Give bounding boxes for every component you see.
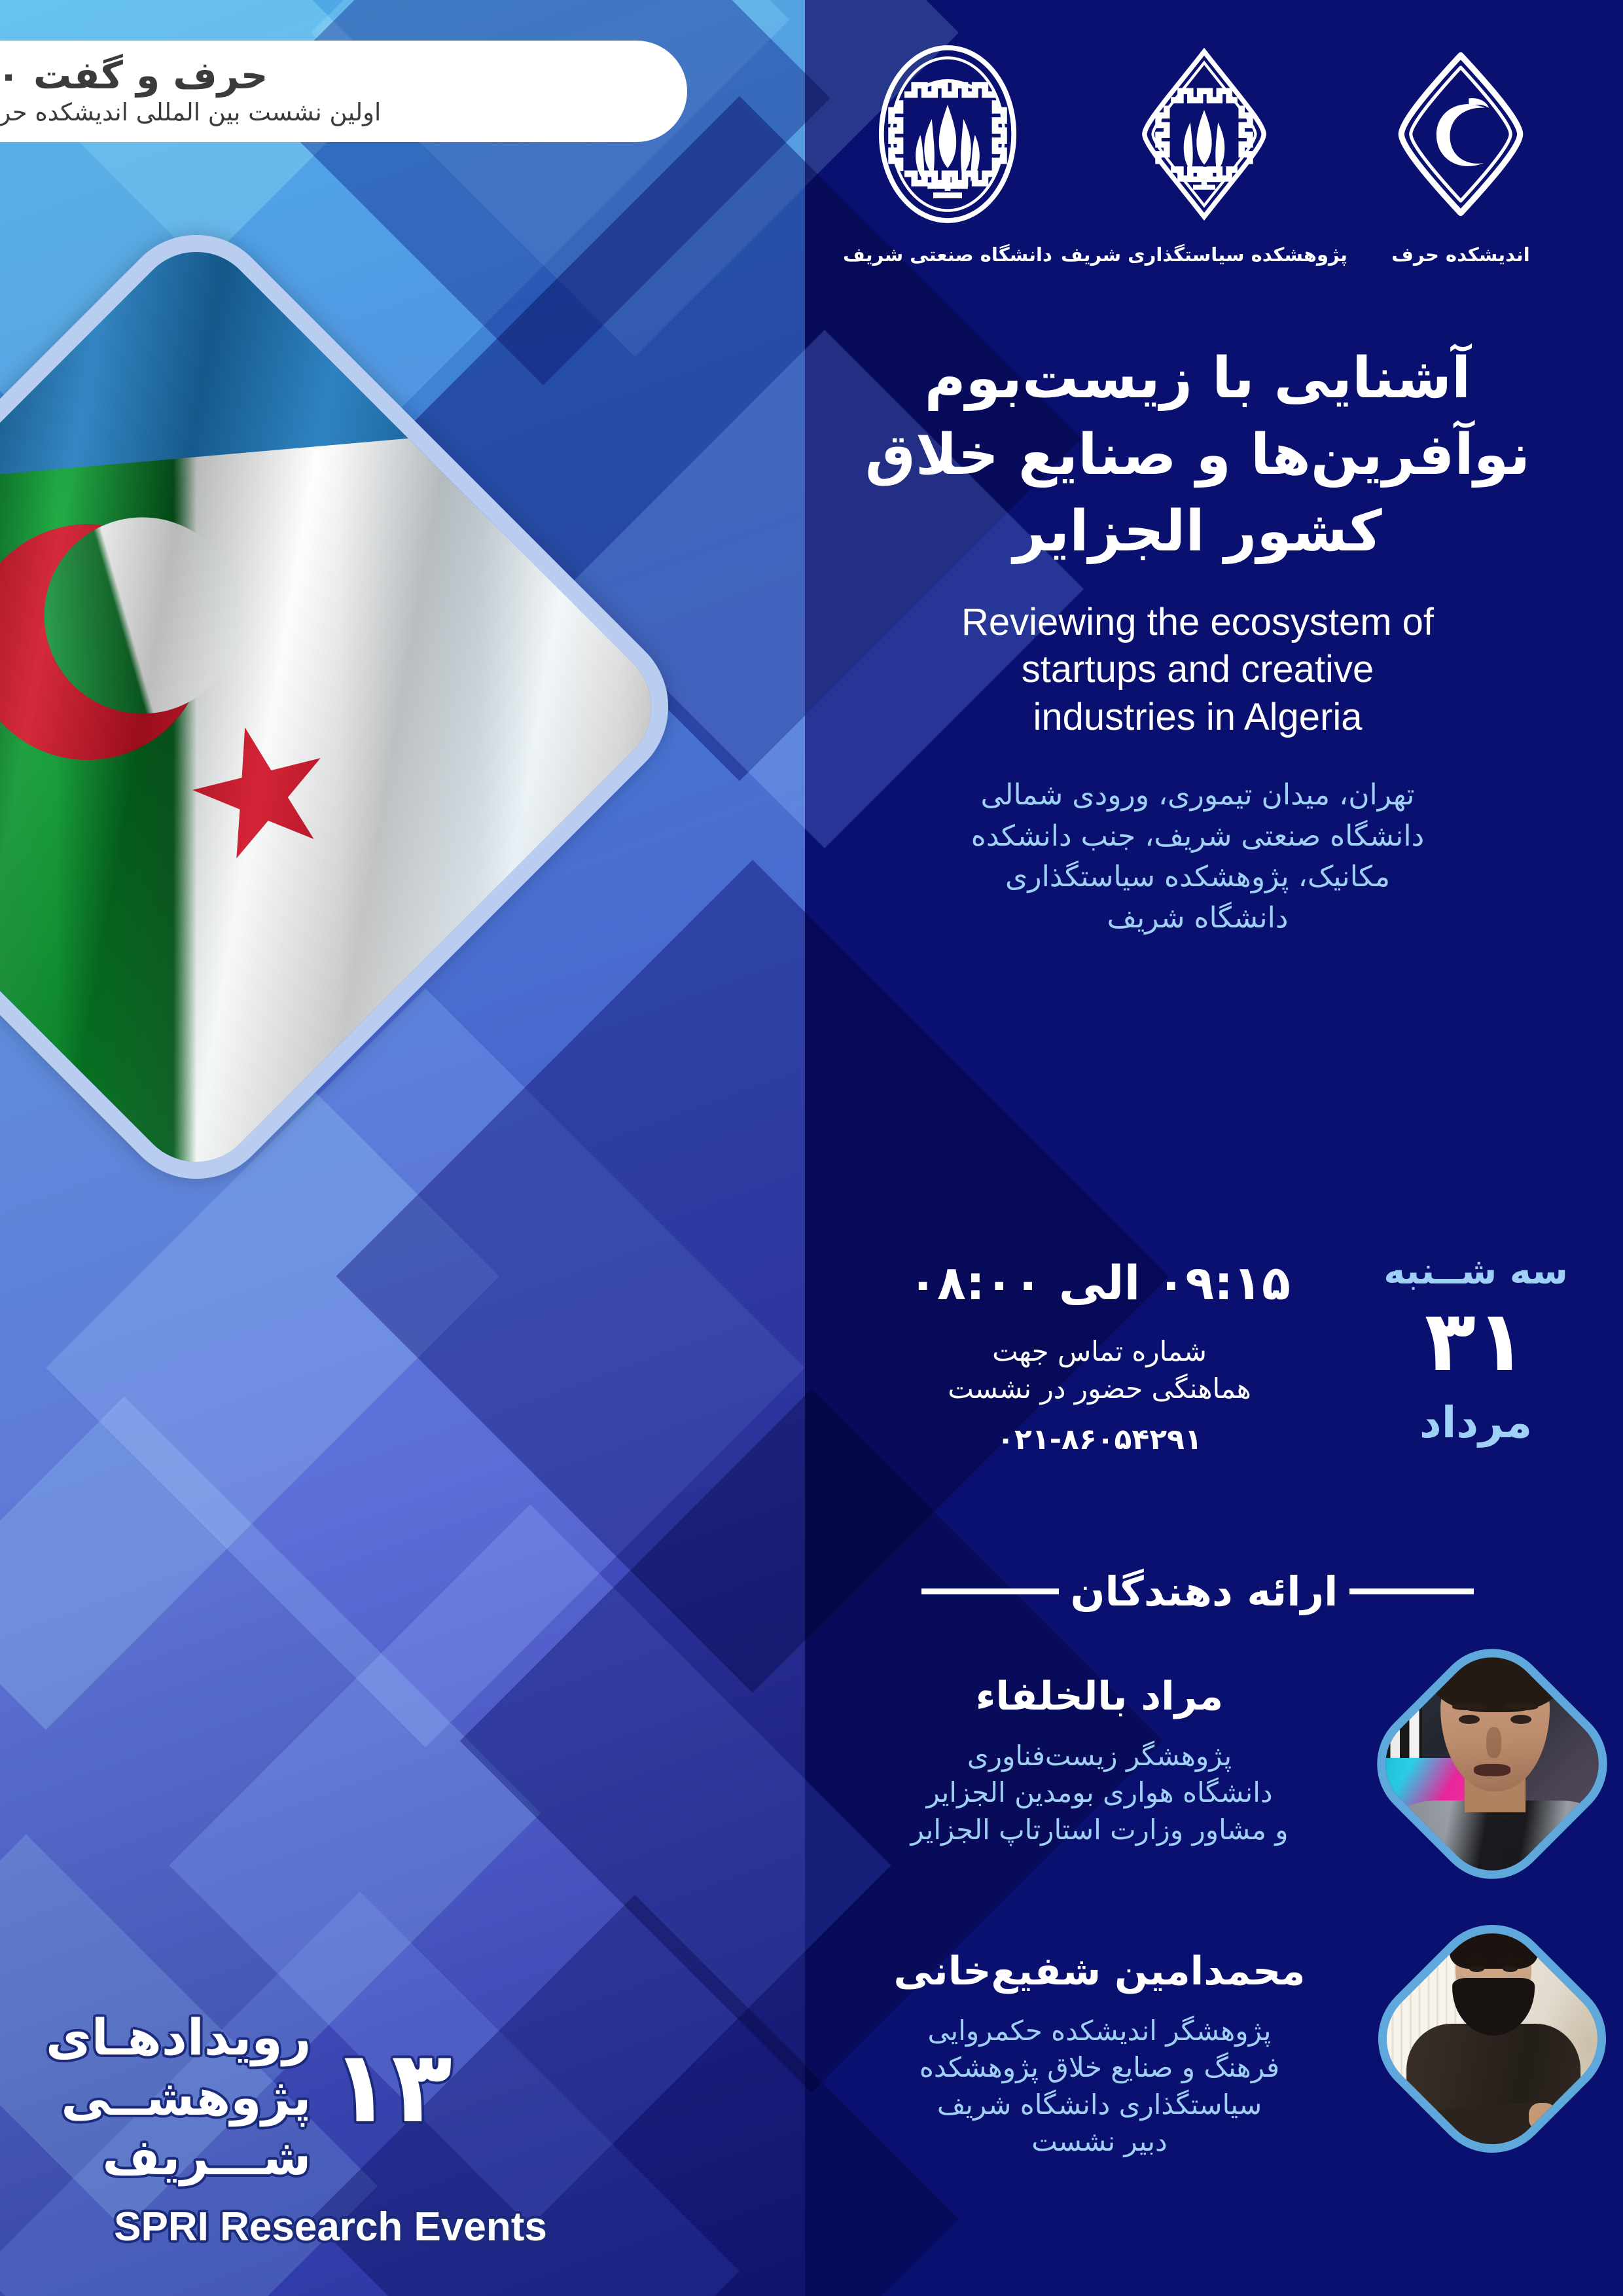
presenters-heading: ارائه دهندگان	[811, 1568, 1584, 1615]
event-title-en: Reviewing the ecosystem of startups and …	[811, 599, 1584, 742]
time-and-contact: ۰۹:۱۵ الی ۰۸:۰۰ شماره تماس جهت هماهنگی ح…	[811, 1244, 1368, 1456]
spri-brand-block: ۱۳ رویدادهـای پژوهشــی شـــریف SPRI Rese…	[46, 2007, 615, 2250]
contact-phone[interactable]: ۰۲۱-۸۶۰۵۴۲۹۱	[831, 1423, 1368, 1456]
date-badge: سه شــنبه ۳۱ مرداد	[1368, 1244, 1584, 1448]
logo-item-harf-think-tank: اندیشکده حرف	[1356, 33, 1565, 266]
brand-title-en: SPRI Research Events	[46, 2204, 615, 2250]
presenter-role-line: دبیر نشست	[805, 2123, 1394, 2160]
event-title-fa-line: کشور الجزایر	[811, 493, 1584, 570]
event-title-fa-line: نوآفرین‌ها و صنایع خلاق	[811, 417, 1584, 493]
presenter-role-line: و مشاور وزارت استارتاپ الجزایر	[805, 1812, 1394, 1848]
datetime-block: سه شــنبه ۳۱ مرداد ۰۹:۱۵ الی ۰۸:۰۰ شماره…	[811, 1244, 1584, 1456]
event-title-fa: آشنایی با زیست‌بوم نوآفرین‌ها و صنایع خل…	[811, 340, 1584, 570]
brand-title-fa: رویدادهـای پژوهشــی شـــریف	[46, 2007, 311, 2187]
sharif-policy-research-institute-logo	[1122, 33, 1286, 236]
presenter-name: مراد بالخلفاء	[805, 1675, 1394, 1718]
brand-title-fa-line: رویدادهـای	[46, 2007, 311, 2067]
event-poster: حرف و گفت ۱۰ اولین نشست بین المللی اندیش…	[0, 0, 1623, 2296]
logo-label: پژوهشکده سیاستگذاری شریف	[1061, 243, 1347, 266]
series-header-badge: حرف و گفت ۱۰ اولین نشست بین المللی اندیش…	[0, 41, 687, 142]
heading-rule-right	[1349, 1588, 1474, 1594]
event-title-en-line: industries in Algeria	[811, 694, 1584, 742]
event-weekday: سه شــنبه	[1368, 1250, 1584, 1293]
presenter-role-line: دانشگاه هواری بومدین الجزایر	[805, 1774, 1394, 1811]
heading-rule-left	[921, 1588, 1059, 1594]
sharif-university-logo	[866, 33, 1029, 236]
event-title-en-line: startups and creative	[811, 646, 1584, 694]
address-line: مکانیک، پژوهشکده سیاستگذاری	[830, 857, 1565, 897]
harf-think-tank-logo	[1379, 33, 1543, 236]
presenters-heading-label: ارائه دهندگان	[1071, 1568, 1338, 1615]
contact-note: شماره تماس جهت هماهنگی حضور در نشست	[831, 1333, 1368, 1407]
event-address: تهران، میدان تیموری، ورودی شمالی دانشگاه…	[811, 775, 1584, 939]
presenter-role-line: پژوهشگر اندیشکده حکمروایی	[805, 2013, 1394, 2049]
presenter-role: پژوهشگر زیست‌فناوری دانشگاه هواری بومدین…	[805, 1738, 1394, 1848]
presenter-card: مراد بالخلفاء پژوهشگر زیست‌فناوری دانشگا…	[805, 1666, 1597, 1862]
brand-title-fa-line: شـــریف	[46, 2127, 311, 2187]
presenter-card: محمدامین شفیع‌خانی پژوهشگر اندیشکده حکمر…	[805, 1941, 1597, 2160]
event-day: ۳۱	[1368, 1298, 1584, 1386]
address-line: دانشگاه صنعتی شریف، جنب دانشکده	[830, 816, 1565, 857]
series-title: حرف و گفت ۱۰	[0, 56, 268, 96]
event-title-en-line: Reviewing the ecosystem of	[811, 599, 1584, 647]
brand-title-fa-line: پژوهشــی	[46, 2068, 311, 2127]
series-subtitle: اولین نشست بین المللی اندیشکده حرف	[0, 98, 381, 127]
presenter-role-line: فرهنگ و صنایع خلاق پژوهشکده	[805, 2049, 1394, 2086]
brand-edition-number: ۱۳	[330, 2007, 452, 2136]
contact-note-line: شماره تماس جهت	[831, 1333, 1368, 1370]
presenter-role-line: سیاستگذاری دانشگاه شریف	[805, 2087, 1394, 2123]
presenter-details: مراد بالخلفاء پژوهشگر زیست‌فناوری دانشگا…	[805, 1666, 1394, 1848]
event-info-column: آشنایی با زیست‌بوم نوآفرین‌ها و صنایع خل…	[811, 340, 1584, 939]
address-line: تهران، میدان تیموری، ورودی شمالی	[830, 775, 1565, 816]
logo-item-sharif-university: دانشگاه صنعتی شریف	[843, 33, 1052, 266]
event-title-fa-line: آشنایی با زیست‌بوم	[811, 340, 1584, 417]
event-time: ۰۹:۱۵ الی ۰۸:۰۰	[831, 1255, 1368, 1310]
logo-label: اندیشکده حرف	[1391, 243, 1529, 266]
presenter-name: محمدامین شفیع‌خانی	[805, 1950, 1394, 1993]
presenter-role-line: پژوهشگر زیست‌فناوری	[805, 1738, 1394, 1774]
presenter-role: پژوهشگر اندیشکده حکمروایی فرهنگ و صنایع …	[805, 2013, 1394, 2160]
contact-note-line: هماهنگی حضور در نشست	[831, 1370, 1368, 1407]
address-line: دانشگاه شریف	[830, 898, 1565, 939]
event-month: مرداد	[1368, 1397, 1584, 1448]
presenter-details: محمدامین شفیع‌خانی پژوهشگر اندیشکده حکمر…	[805, 1941, 1394, 2160]
logo-item-spri: پژوهشکده سیاستگذاری شریف	[1099, 33, 1309, 266]
logo-label: دانشگاه صنعتی شریف	[843, 243, 1052, 266]
logo-bar: دانشگاه صنعتی شریف	[818, 33, 1590, 308]
